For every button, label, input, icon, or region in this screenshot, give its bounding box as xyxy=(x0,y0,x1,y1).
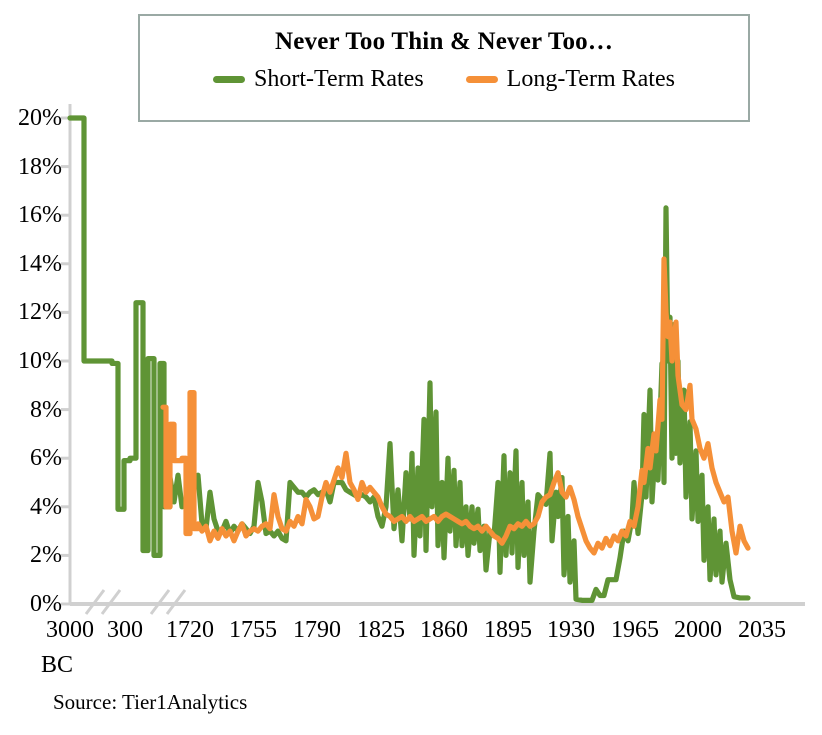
line-swatch-icon xyxy=(213,76,245,83)
x-axis-tick-label: 1790 xyxy=(293,618,341,642)
x-axis-tick-label: 1930 xyxy=(547,618,595,642)
chart-root: 0%2%4%6%8%10%12%14%16%18%20% Never Too T… xyxy=(0,0,822,735)
x-axis-tick-label: 1825 xyxy=(357,618,405,642)
x-axis-tick-label: 1720 xyxy=(166,618,214,642)
legend-item-short-term[interactable]: Short-Term Rates xyxy=(213,66,424,93)
x-axis-tick-label: 1965 xyxy=(611,618,659,642)
x-axis-tick-label: 1860 xyxy=(420,618,468,642)
legend-item-long-term[interactable]: Long-Term Rates xyxy=(466,66,675,93)
x-axis-tick-label: 1755 xyxy=(229,618,277,642)
x-axis-tick-label: 2000 xyxy=(674,618,722,642)
series-line-short-term xyxy=(70,118,748,600)
legend: Short-Term Rates Long-Term Rates xyxy=(213,66,675,93)
legend-label-long-term: Long-Term Rates xyxy=(507,66,675,93)
x-axis-bc-suffix: BC xyxy=(41,652,73,679)
x-axis-tick-label: 1895 xyxy=(484,618,532,642)
x-axis-tick-label: 2035 xyxy=(738,618,786,642)
source-note: Source: Tier1Analytics xyxy=(53,690,247,715)
x-axis-tick-label: 300 xyxy=(107,618,143,642)
line-swatch-icon xyxy=(466,76,498,83)
title-legend-box: Never Too Thin & Never Too… Short-Term R… xyxy=(138,14,750,122)
legend-label-short-term: Short-Term Rates xyxy=(254,66,424,93)
page-title: Never Too Thin & Never Too… xyxy=(275,28,613,56)
x-axis-tick-label: 3000 xyxy=(46,618,94,642)
x-axis-labels: 3000300172017551790182518601895193019652… xyxy=(0,618,822,658)
